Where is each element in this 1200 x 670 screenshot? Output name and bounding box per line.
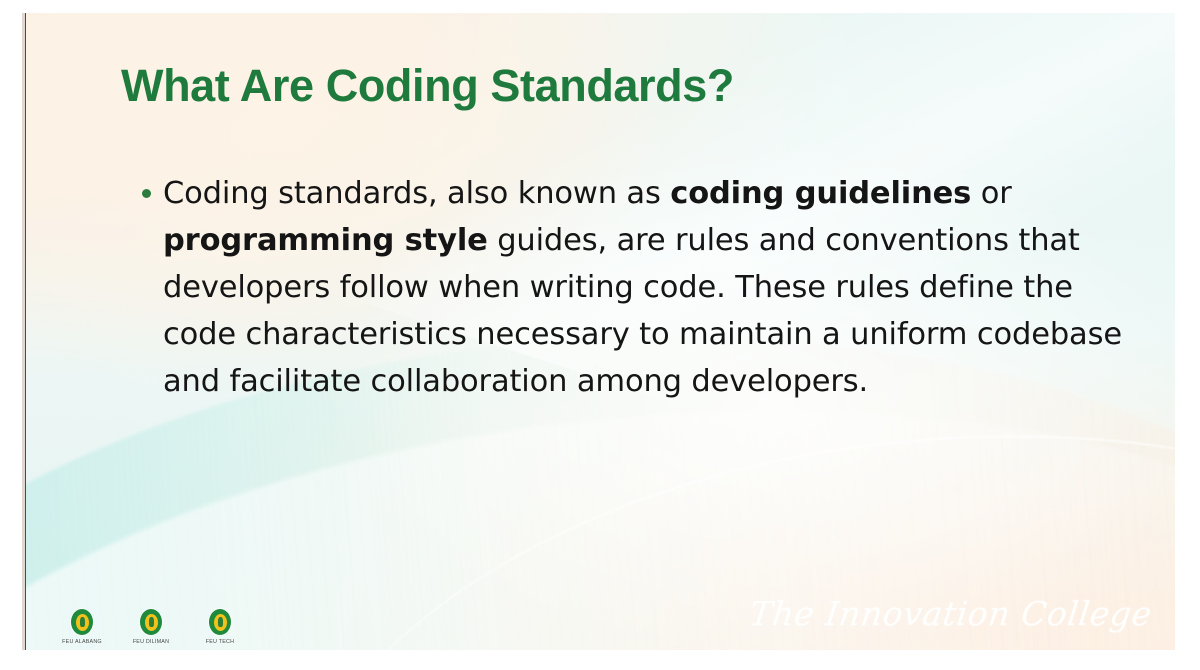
feu-seal-icon [209, 609, 231, 635]
presentation-canvas: What Are Coding Standards? Coding standa… [0, 0, 1200, 670]
slide-body: Coding standards, also known as coding g… [140, 170, 1130, 405]
footer-logo-item: FEU ALABANG [57, 609, 107, 645]
footer-logo-group: FEU ALABANG FEU DILIMAN FEU TECH [57, 609, 245, 645]
text-run: or [971, 176, 1011, 211]
footer-logo-label: FEU TECH [206, 639, 234, 645]
feu-seal-icon [71, 609, 93, 635]
slide-watermark: The Innovation College [748, 594, 1155, 633]
text-run: Coding standards, also known as [163, 176, 670, 211]
footer-logo-label: FEU ALABANG [62, 639, 102, 645]
bullet-list-item: Coding standards, also known as coding g… [140, 170, 1130, 405]
footer-logo-item: FEU DILIMAN [126, 609, 176, 645]
bullet-paragraph: Coding standards, also known as coding g… [163, 170, 1130, 405]
slide-title: What Are Coding Standards? [121, 60, 734, 112]
footer-logo-item: FEU TECH [195, 609, 245, 645]
feu-seal-icon [140, 609, 162, 635]
bold-text-run: programming style [163, 223, 488, 258]
slide: What Are Coding Standards? Coding standa… [26, 13, 1175, 650]
footer-logo-label: FEU DILIMAN [133, 639, 169, 645]
bullet-point-icon [142, 189, 151, 198]
bold-text-run: coding guidelines [670, 176, 971, 211]
